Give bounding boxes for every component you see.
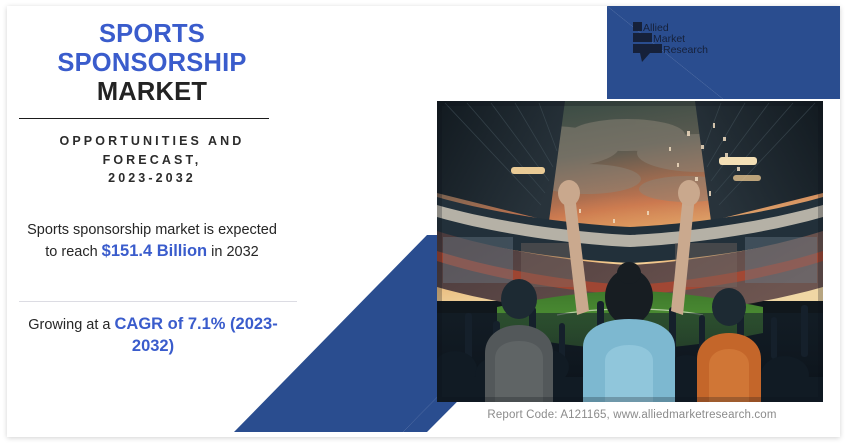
- market-value-suffix: in 2032: [207, 244, 259, 260]
- title-line-sponsorship: SPONSORSHIP: [7, 49, 297, 78]
- cagr-statement: Growing at a CAGR of 7.1% (2023-2032): [19, 314, 287, 358]
- subtitle-line-years: 2023-2032: [7, 169, 297, 188]
- subtitle-line-opportunities: OPPORTUNITIES AND: [7, 132, 297, 151]
- title-divider: [19, 118, 269, 119]
- stadium-crowd-photo: [437, 101, 823, 402]
- cagr-prefix: Growing at a: [28, 317, 114, 333]
- allied-market-research-logo: Allied Market Research: [632, 20, 712, 68]
- cagr-highlight: CAGR of 7.1% (2023-2032): [115, 315, 278, 355]
- left-text-column: SPORTS SPONSORSHIP MARKET OPPORTUNITIES …: [7, 6, 297, 437]
- title-line-sports: SPORTS: [7, 20, 297, 49]
- subtitle-line-forecast: FORECAST,: [7, 151, 297, 170]
- page-title: SPORTS SPONSORSHIP MARKET: [7, 20, 297, 107]
- subtitle: OPPORTUNITIES AND FORECAST, 2023-2032: [7, 132, 297, 188]
- market-value-highlight: $151.4 Billion: [102, 242, 207, 260]
- infographic-card: SPORTS SPONSORSHIP MARKET OPPORTUNITIES …: [7, 6, 840, 437]
- logo-text-research: Research: [663, 44, 708, 56]
- title-line-market: MARKET: [7, 78, 297, 107]
- report-code-footer: Report Code: A121165, www.alliedmarketre…: [437, 409, 827, 421]
- market-value-statement: Sports sponsorship market is expected to…: [23, 220, 281, 263]
- section-divider: [19, 301, 297, 302]
